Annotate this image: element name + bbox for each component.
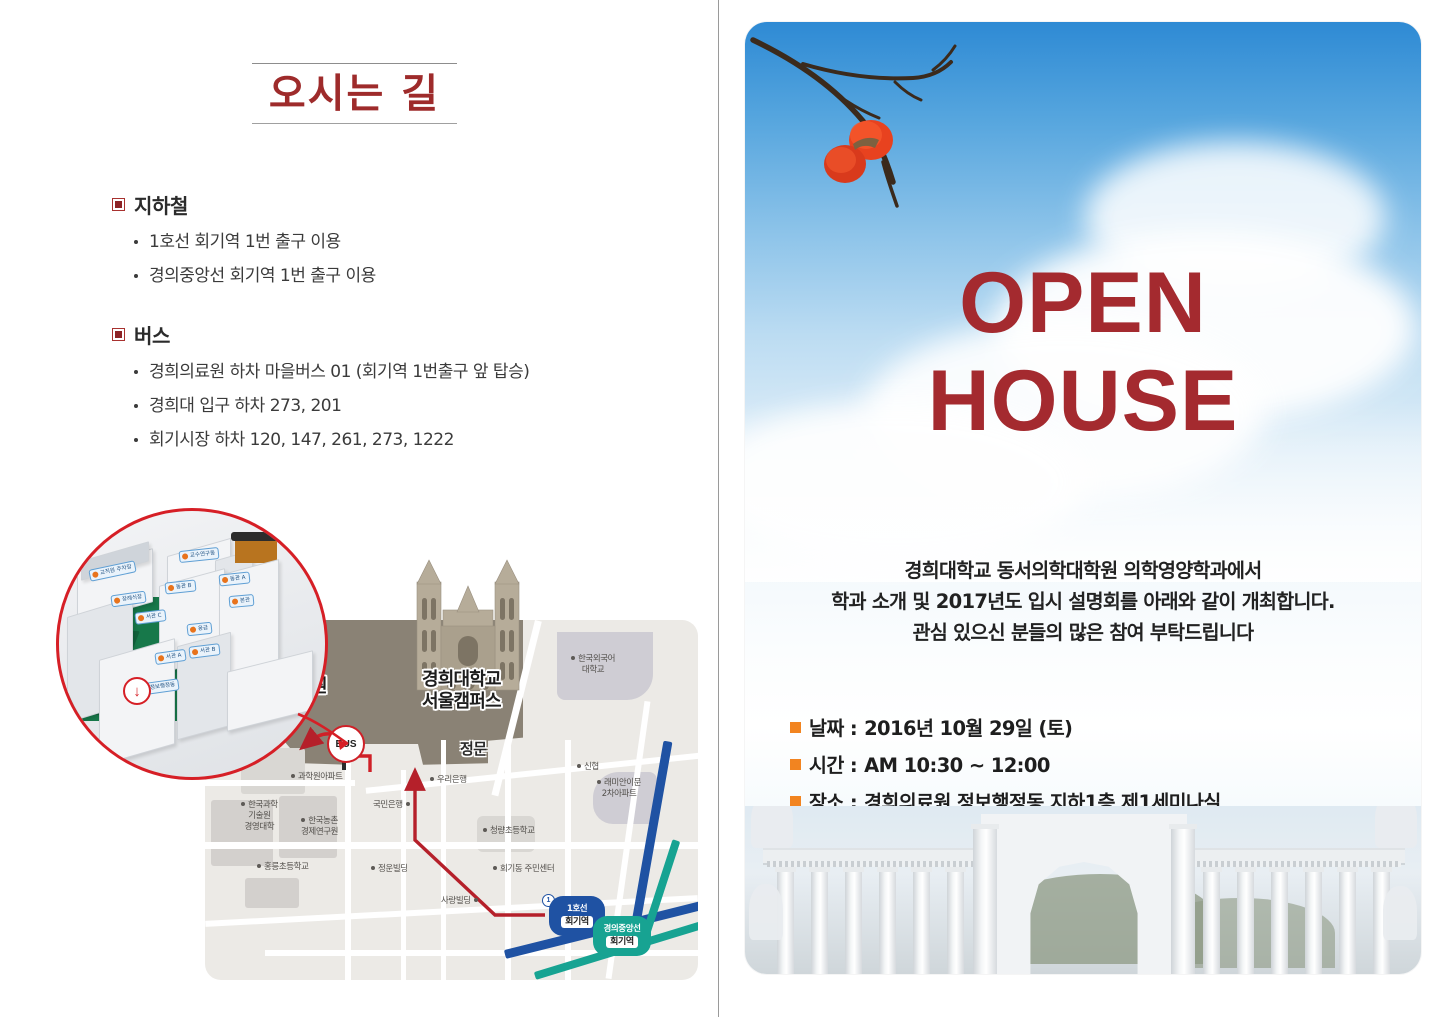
- statue: [1383, 886, 1417, 940]
- poster-title: OPEN HOUSE: [745, 254, 1421, 450]
- section-subway: 지하철 1호선 회기역 1번 출구 이용 경의중앙선 회기역 1번 출구 이용: [112, 190, 376, 293]
- open-house-poster: OPEN HOUSE 경희대학교 동서의학대학원 의학영양학과에서 학과 소개 …: [745, 22, 1421, 974]
- bus-list: 경희의료원 하차 마을버스 01 (회기역 1번출구 앞 탑승) 경희대 입구 …: [112, 355, 529, 457]
- panel-divider: [718, 0, 719, 1017]
- section-subway-header: 지하철: [112, 190, 376, 219]
- detail-value: AM 10:30 ~ 12:00: [864, 751, 1050, 780]
- orange-square-bullet-icon: [790, 759, 801, 770]
- statue: [751, 806, 793, 848]
- detail-label: 날짜 :: [809, 714, 857, 743]
- detail-row-date: 날짜 : 2016년 10월 29일 (토): [790, 714, 1401, 743]
- page-title-block: 오시는 길: [252, 63, 457, 124]
- poster-title-line1: OPEN: [745, 254, 1421, 352]
- intro-line: 관심 있으신 분들의 많은 참여 부탁드립니다: [745, 617, 1421, 648]
- title-rule-bottom: [252, 123, 457, 124]
- statue: [1375, 806, 1417, 848]
- detail-label: 시간 :: [809, 751, 857, 780]
- list-item: 회기시장 하차 120, 147, 261, 273, 1222: [130, 423, 529, 457]
- flyer-page: 오시는 길 지하철 1호선 회기역 1번 출구 이용 경의중앙선 회기역 1번 …: [0, 0, 1440, 1017]
- list-item: 경의중앙선 회기역 1번 출구 이용: [130, 259, 376, 293]
- persimmon-branch-illustration: [745, 22, 1045, 252]
- poster-title-line2: HOUSE: [745, 352, 1421, 450]
- subway-list: 1호선 회기역 1번 출구 이용 경의중앙선 회기역 1번 출구 이용: [112, 225, 376, 293]
- intro-line: 경희대학교 동서의학대학원 의학영양학과에서: [745, 555, 1421, 586]
- colonnade-photo: [745, 806, 1421, 974]
- section-subway-title: 지하철: [134, 190, 188, 219]
- section-bus-header: 버스: [112, 320, 529, 349]
- section-bus: 버스 경희의료원 하차 마을버스 01 (회기역 1번출구 앞 탑승) 경희대 …: [112, 320, 529, 457]
- column: [947, 867, 964, 974]
- column: [1305, 867, 1322, 974]
- page-title: 오시는 길: [252, 64, 457, 123]
- column: [913, 867, 930, 974]
- detail-value: 2016년 10월 29일 (토): [864, 714, 1072, 743]
- location-map: BUS 한국외국어 대학교 신협 래미안이문 2차아파트 과학원아파트 한국과: [48, 500, 698, 985]
- column: [1203, 867, 1220, 974]
- list-item: 1호선 회기역 1번 출구 이용: [130, 225, 376, 259]
- list-item: 경희대 입구 하차 273, 201: [130, 389, 529, 423]
- poster-intro: 경희대학교 동서의학대학원 의학영양학과에서 학과 소개 및 2017년도 입시…: [745, 555, 1421, 648]
- column: [845, 867, 862, 974]
- square-bullet-icon: [112, 328, 125, 341]
- detail-row-time: 시간 : AM 10:30 ~ 12:00: [790, 751, 1401, 780]
- statue: [749, 884, 783, 940]
- intro-line: 학과 소개 및 2017년도 입시 설명회를 아래와 같이 개최합니다.: [745, 586, 1421, 617]
- column: [1339, 867, 1356, 974]
- orange-square-bullet-icon: [790, 722, 801, 733]
- column: [811, 867, 828, 974]
- column: [1237, 867, 1254, 974]
- list-item: 경희의료원 하차 마을버스 01 (회기역 1번출구 앞 탑승): [130, 355, 529, 389]
- pier: [1171, 824, 1195, 974]
- pier: [973, 824, 997, 974]
- directions-panel: 오시는 길 지하철 1호선 회기역 1번 출구 이용 경의중앙선 회기역 1번 …: [0, 0, 718, 1017]
- square-bullet-icon: [112, 198, 125, 211]
- inset-leader-line: [48, 500, 698, 985]
- column: [879, 867, 896, 974]
- section-bus-title: 버스: [134, 320, 170, 349]
- column: [1271, 867, 1288, 974]
